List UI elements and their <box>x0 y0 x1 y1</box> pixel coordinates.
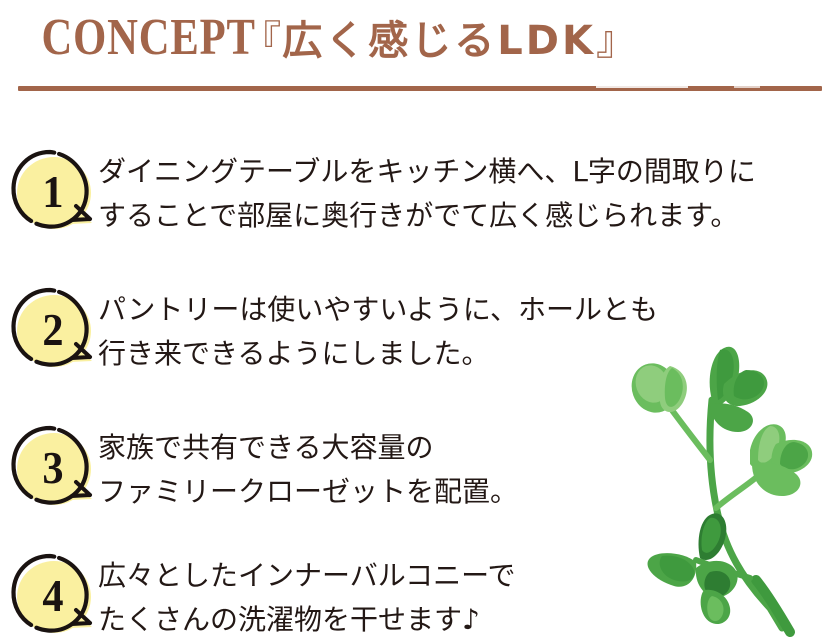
header-title-row: CONCEPT 『広く感じるLDK』 <box>18 12 637 64</box>
list-item: 4 広々としたインナーバルコニーで たくさんの洗濯物を干せます♪ <box>6 548 515 642</box>
list-item: 2 パントリーは使いやすいように、ホールとも 行き来できるようにしました。 <box>6 282 658 376</box>
concept-subtitle: 『広く感じるLDK』 <box>241 21 637 61</box>
list-item-line: 行き来できるようにしました。 <box>98 332 658 376</box>
list-item-text: 家族で共有できる大容量の ファミリークローゼットを配置。 <box>98 420 518 514</box>
list-item: 3 家族で共有できる大容量の ファミリークローゼットを配置。 <box>6 420 518 514</box>
badge-number-label: 3 <box>10 420 95 512</box>
list-item-line: たくさんの洗濯物を干せます♪ <box>98 598 515 642</box>
badge-number-label: 4 <box>10 548 95 640</box>
plant-branch-middle-right <box>716 476 758 508</box>
number-badge-4: 4 <box>6 548 98 640</box>
plant-stem-base <box>756 580 790 632</box>
list-item-line: ファミリークローゼットを配置。 <box>98 470 518 514</box>
bracket-close: 』 <box>596 18 637 64</box>
list-item: 1 ダイニングテーブルをキッチン横へ、L字の間取りに することで部屋に奥行きがで… <box>6 144 756 238</box>
divider-highlight-gap-secondary <box>734 86 760 88</box>
page-title: CONCEPT <box>42 12 256 64</box>
plant-leaf-upper-left <box>625 357 687 419</box>
divider-highlight-gap <box>596 86 688 88</box>
list-item-text: パントリーは使いやすいように、ホールとも 行き来できるようにしました。 <box>98 282 658 376</box>
list-item-line: 広々としたインナーバルコニーで <box>98 554 515 598</box>
concept-subtitle-text: 広く感じるLDK <box>282 18 596 64</box>
header-divider-rule <box>18 86 822 91</box>
list-item-text: ダイニングテーブルをキッチン横へ、L字の間取りに することで部屋に奥行きがでて広… <box>98 144 756 238</box>
badge-number-label: 2 <box>10 282 95 374</box>
list-item-text: 広々としたインナーバルコニーで たくさんの洗濯物を干せます♪ <box>98 548 515 642</box>
plant-leaf-top-right <box>710 347 768 432</box>
plant-leaf-lower-left <box>647 513 737 624</box>
list-item-line: 家族で共有できる大容量の <box>98 426 518 470</box>
badge-number-label: 1 <box>10 144 95 236</box>
list-item-line: ダイニングテーブルをキッチン横へ、L字の間取りに <box>98 150 756 194</box>
clover-sprig-icon <box>600 340 840 640</box>
number-badge-1: 1 <box>6 144 98 236</box>
number-badge-3: 3 <box>6 420 98 512</box>
plant-leaf-middle-right <box>750 424 812 496</box>
number-badge-2: 2 <box>6 282 98 374</box>
list-item-line: パントリーは使いやすいように、ホールとも <box>98 288 658 332</box>
page-header: CONCEPT 『広く感じるLDK』 <box>0 0 840 100</box>
list-item-line: することで部屋に奥行きがでて広く感じられます。 <box>98 194 756 238</box>
